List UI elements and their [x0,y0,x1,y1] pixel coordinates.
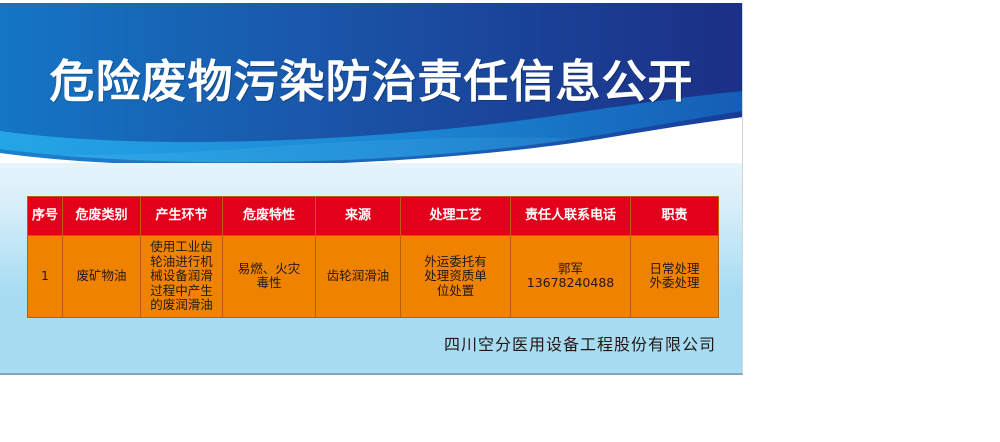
page-title: 危险废物污染防治责任信息公开 [0,53,743,111]
cell-contact: 郭军 13678240488 [511,236,631,318]
column-header-hazard: 危废特性 [223,197,316,236]
column-header-process: 产生环节 [141,197,223,236]
column-header-treatment: 处理工艺 [401,197,511,236]
column-header-duty: 职责 [631,197,719,236]
cell-duty: 日常处理 外委处理 [631,236,719,318]
company-name: 四川空分医用设备工程股份有限公司 [0,331,716,355]
cell-category: 废矿物油 [63,236,141,318]
hazardous-waste-table: 序号 危废类别 产生环节 危废特性 来源 处理工艺 责任人联系电话 职责 1 废… [27,196,719,318]
table-row: 1 废矿物油 使用工业齿 轮油进行机 械设备润滑 过程中产生 的废润滑油 易燃、… [28,236,719,318]
cell-hazard: 易燃、火灾 毒性 [223,236,316,318]
cell-index: 1 [28,236,63,318]
column-header-index: 序号 [28,197,63,236]
header-banner: 危险废物污染防治责任信息公开 [0,3,743,163]
poster-board: 危险废物污染防治责任信息公开 序号 危废类别 产生环节 危废特性 来源 处理工艺… [0,3,743,375]
table-header-row: 序号 危废类别 产生环节 危废特性 来源 处理工艺 责任人联系电话 职责 [28,197,719,236]
column-header-contact: 责任人联系电话 [511,197,631,236]
cell-treatment: 外运委托有 处理资质单 位处置 [401,236,511,318]
cell-source: 齿轮润滑油 [316,236,401,318]
column-header-category: 危废类别 [63,197,141,236]
cell-process: 使用工业齿 轮油进行机 械设备润滑 过程中产生 的废润滑油 [141,236,223,318]
column-header-source: 来源 [316,197,401,236]
